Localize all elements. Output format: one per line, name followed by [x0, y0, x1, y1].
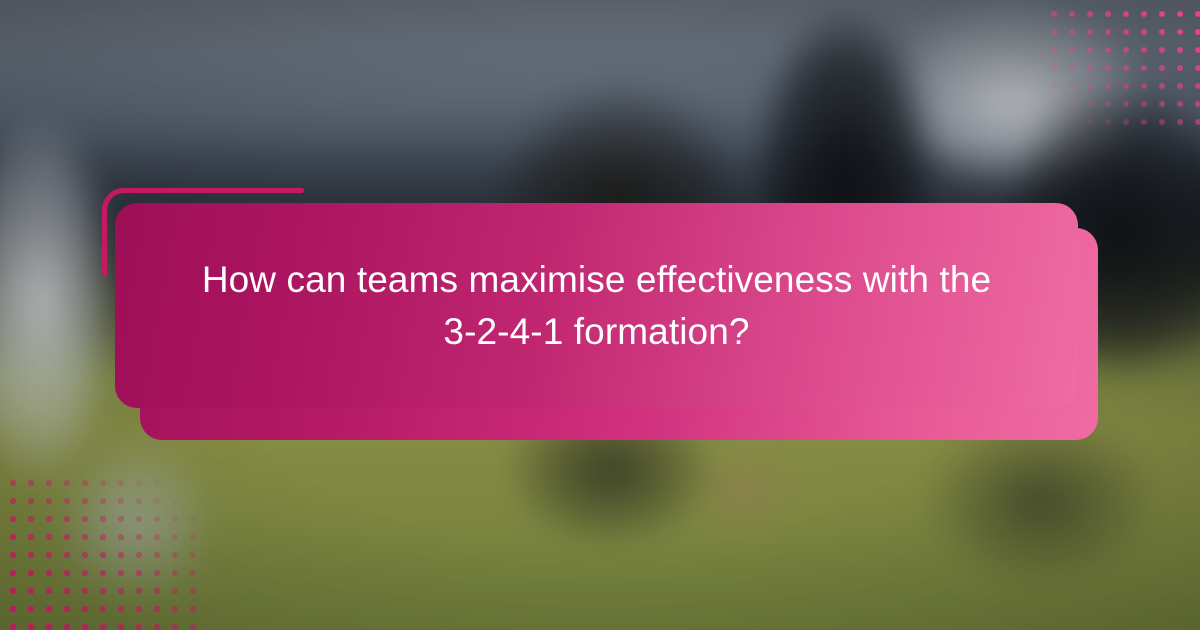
headline-card: How can teams maximise effectiveness wit…	[115, 203, 1078, 408]
social-card-canvas: How can teams maximise effectiveness wit…	[0, 0, 1200, 630]
halftone-dots-bottom-left-icon	[0, 470, 200, 630]
page-title: How can teams maximise effectiveness wit…	[197, 254, 997, 356]
halftone-dots-top-right-icon	[1040, 0, 1200, 135]
